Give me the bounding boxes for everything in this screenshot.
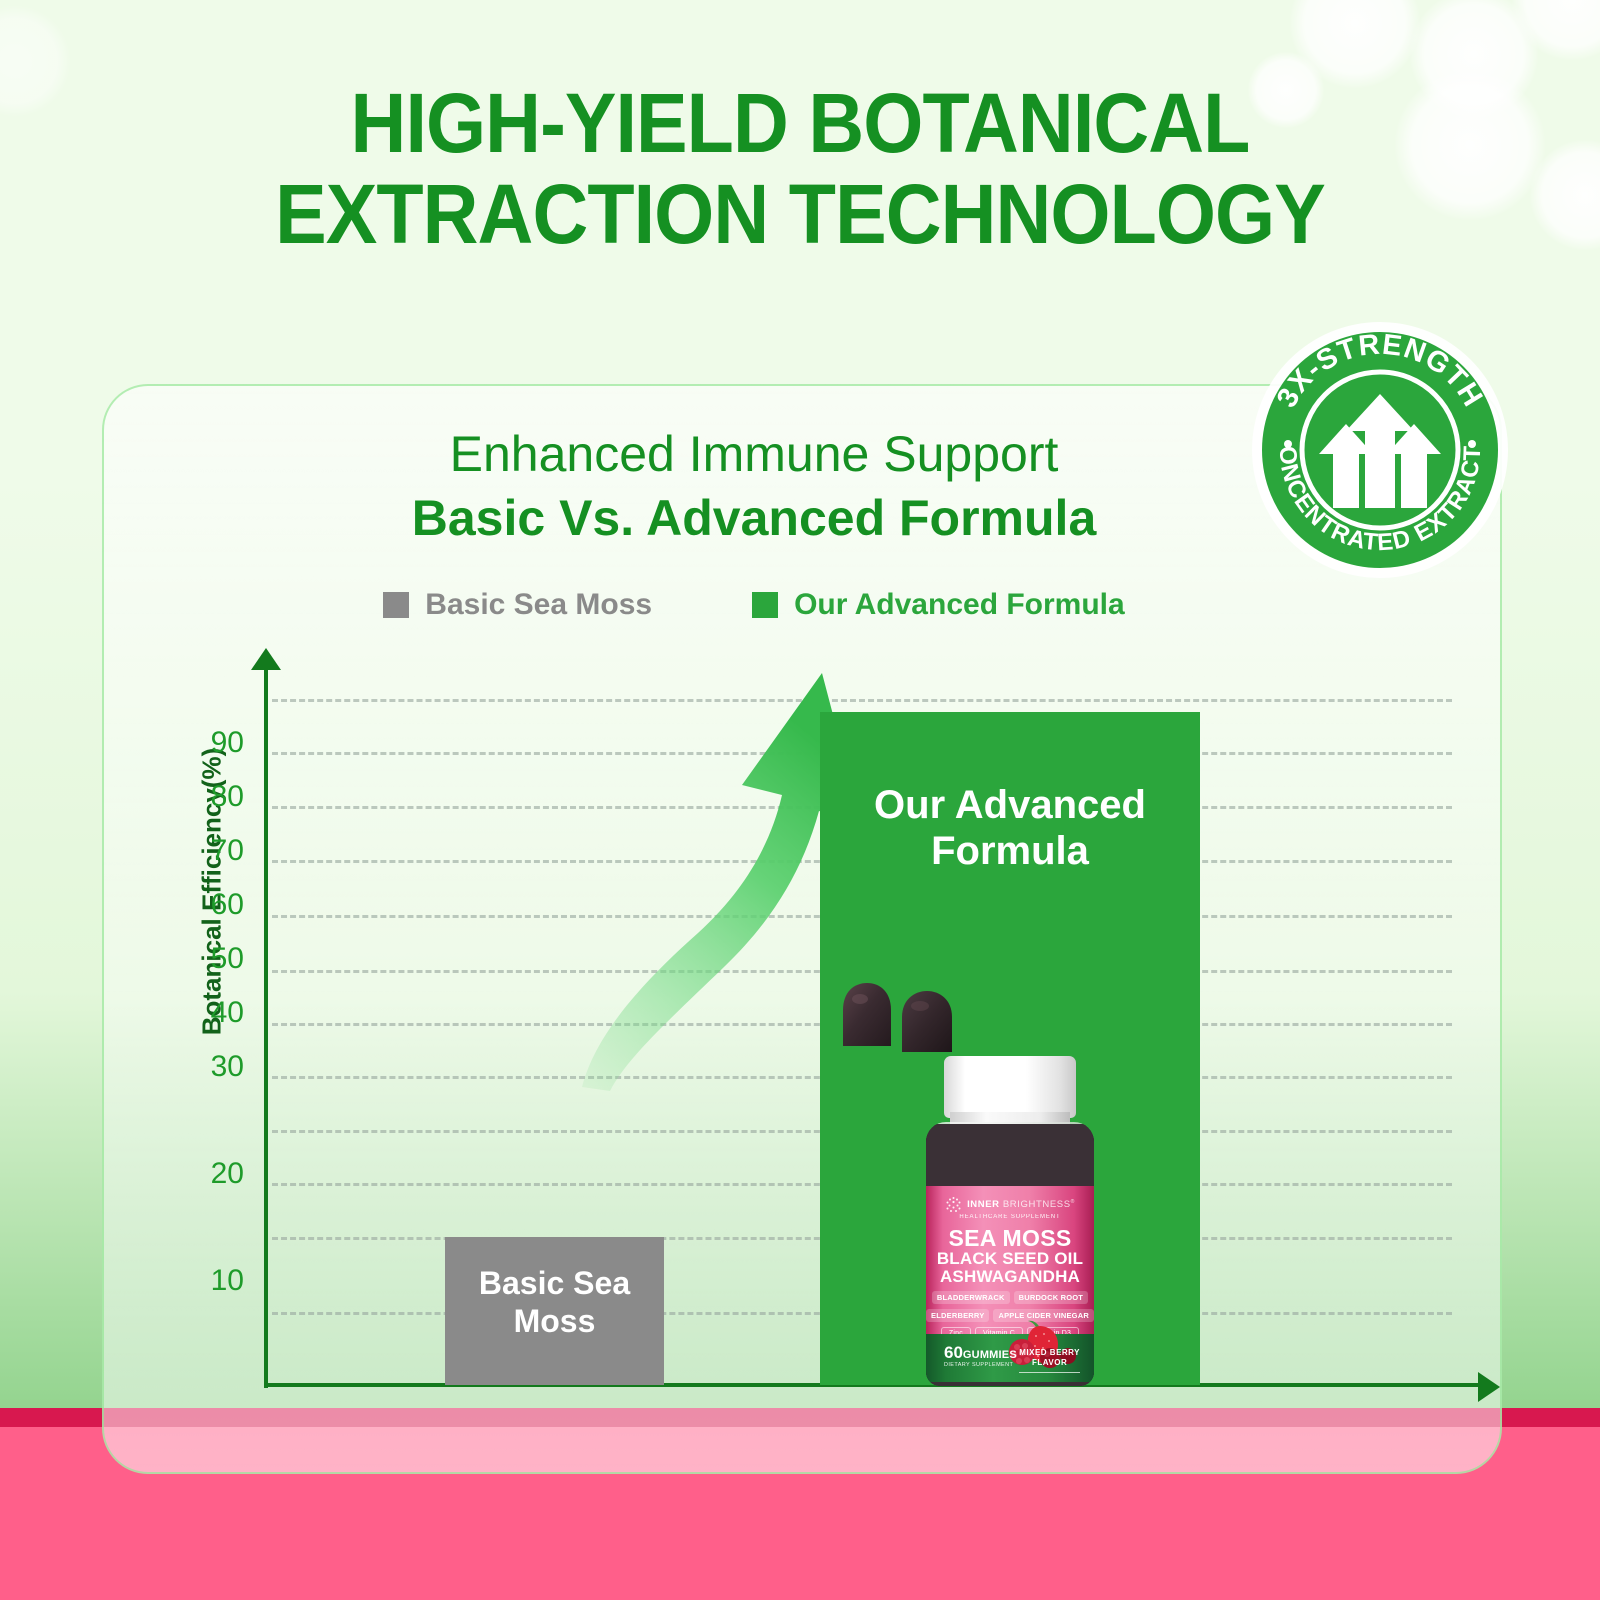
flavor-line-2: FLAVOR [1032,1358,1067,1367]
product-name-line-3: ASHWAGANDHA [926,1268,1094,1286]
page-title-line-1: HIGH-YIELD BOTANICAL [64,78,1536,169]
y-tick-90: 90 [184,726,244,760]
bar-advanced-formula[interactable]: Our Advanced Formula [820,712,1200,1385]
y-tick-70: 70 [184,834,244,868]
gummy-icon [840,982,894,1046]
ingredient-pill: ELDERBERRY [926,1309,989,1322]
bar-advanced-label-line-2: Formula [820,828,1200,874]
flavor-rule [1019,1372,1080,1373]
x-axis-arrowhead-icon [1478,1372,1500,1402]
badge-dot [1468,440,1476,448]
product-name-line-2: BLACK SEED OIL [926,1250,1094,1268]
gummy-count-unit: GUMMIES [963,1349,1017,1361]
brand-subtitle: HEALTHCARE SUPPLEMENT [926,1214,1094,1220]
bar-basic-label: Basic Sea Moss [445,1237,664,1341]
brand-name: INNER BRIGHTNESS® [967,1199,1075,1210]
bar-advanced-label-line-1: Our Advanced [820,782,1200,828]
flavor-block: MIXED BERRY FLAVOR [1019,1348,1080,1373]
y-axis-tick-group: 90 80 70 60 50 40 30 20 10 [134,386,244,1474]
product-bottle[interactable]: INNER BRIGHTNESS® HEALTHCARE SUPPLEMENT … [912,1056,1108,1386]
ingredient-pill: BURDOCK ROOT [1014,1291,1088,1304]
bottle-cap [944,1056,1076,1118]
gummy-count-number: 60 [944,1343,963,1362]
y-tick-60: 60 [184,888,244,922]
gummy-count-block: 60GUMMIES DIETARY SUPPLEMENT [944,1344,1017,1369]
bar-advanced-label: Our Advanced Formula [820,712,1200,875]
strength-badge[interactable]: 3X-STRENGTH CONCENTRATED EXTRACTS [1248,318,1512,582]
y-tick-50: 50 [184,942,244,976]
bar-basic-label-line-2: Moss [445,1303,664,1341]
gummy-count-sub: DIETARY SUPPLEMENT [944,1363,1017,1369]
page-title-line-2: EXTRACTION TECHNOLOGY [64,169,1536,260]
product-name-line-1: SEA MOSS [926,1227,1094,1250]
brand-name-secondary: BRIGHTNESS [1003,1199,1071,1210]
brand-dots-icon [945,1196,962,1213]
flavor-line-1: MIXED BERRY [1019,1348,1080,1357]
bottle-gummies-top [926,1124,1094,1190]
badge-dot [1284,440,1292,448]
y-axis-line [264,658,268,1388]
y-tick-40: 40 [184,996,244,1030]
brand-name-primary: INNER [967,1199,1000,1210]
y-tick-80: 80 [184,780,244,814]
gridline-100 [272,699,1452,702]
brand-lockup: INNER BRIGHTNESS® [926,1196,1094,1213]
gummy-icon [898,990,956,1052]
y-tick-30: 30 [184,1050,244,1084]
page-title: HIGH-YIELD BOTANICAL EXTRACTION TECHNOLO… [64,78,1536,259]
bottle-body: INNER BRIGHTNESS® HEALTHCARE SUPPLEMENT … [926,1122,1094,1386]
ingredient-pill: BLADDERWRACK [932,1291,1010,1304]
ingredient-pill-row-1: BLADDERWRACK BURDOCK ROOT [926,1291,1094,1304]
y-tick-20: 20 [184,1157,244,1191]
brand-registered-mark: ® [1071,1199,1075,1205]
y-tick-10: 10 [184,1264,244,1298]
y-axis-arrowhead-icon [251,648,281,670]
bar-basic-sea-moss[interactable]: Basic Sea Moss [445,1237,664,1385]
bar-basic-label-line-1: Basic Sea [445,1265,664,1303]
